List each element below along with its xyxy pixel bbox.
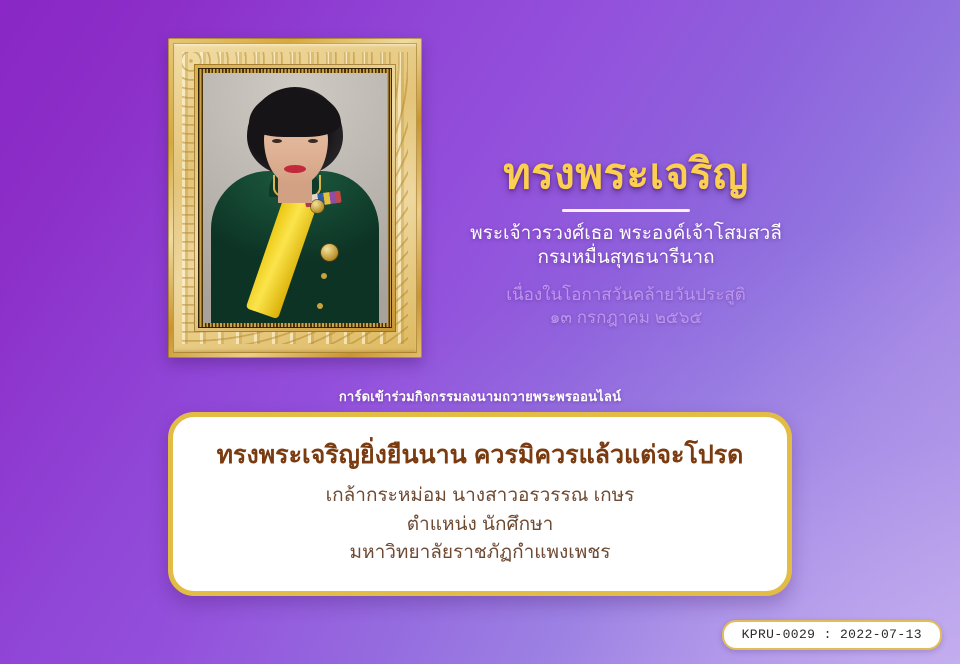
wish-card-position: ตำแหน่ง นักศึกษา: [407, 511, 554, 540]
occasion-line-1: เนื่องในโอกาสวันคล้ายวันประสูติ: [452, 283, 800, 306]
portrait-medal-lower: [321, 244, 338, 261]
wish-card-signer: เกล้ากระหม่อม นางสาวอรวรรณ เกษร: [326, 482, 635, 511]
portrait-eye-right: [308, 139, 318, 143]
wish-card-organization: มหาวิทยาลัยราชภัฏกำแพงเพชร: [350, 539, 611, 568]
portrait-medal-upper: [311, 200, 324, 213]
portrait-eye-left: [272, 139, 282, 143]
card-caption: การ์ดเข้าร่วมกิจกรรมลงนามถวายพระพรออนไลน…: [0, 386, 960, 407]
card-id-badge: KPRU-0029 : 2022-07-13: [722, 620, 942, 650]
royal-portrait-frame: [168, 38, 422, 358]
royal-name-line-2: กรมหมื่นสุทธนารีนาถ: [452, 246, 800, 270]
frame-outer-bevel: [168, 38, 422, 358]
greeting-card-canvas: ทรงพระเจริญ พระเจ้าวรวงศ์เธอ พระองค์เจ้า…: [0, 0, 960, 664]
greeting-block: ทรงพระเจริญ พระเจ้าวรวงศ์เธอ พระองค์เจ้า…: [452, 150, 800, 330]
greeting-headline: ทรงพระเจริญ: [452, 150, 800, 197]
portrait-button-lower: [317, 303, 323, 309]
royal-name-line-1: พระเจ้าวรวงศ์เธอ พระองค์เจ้าโสมสวลี: [452, 222, 800, 246]
wish-card-headline: ทรงพระเจริญยิ่งยืนนาน ควรมิควรแล้วแต่จะโ…: [217, 440, 744, 470]
portrait-lips: [284, 165, 306, 173]
wish-card: ทรงพระเจริญยิ่งยืนนาน ควรมิควรแล้วแต่จะโ…: [168, 412, 792, 596]
portrait-button-upper: [321, 273, 327, 279]
greeting-divider: [562, 209, 690, 212]
royal-portrait-photo: [203, 73, 387, 323]
occasion-line-2: ๑๓ กรกฎาคม ๒๕๖๕: [452, 306, 800, 329]
